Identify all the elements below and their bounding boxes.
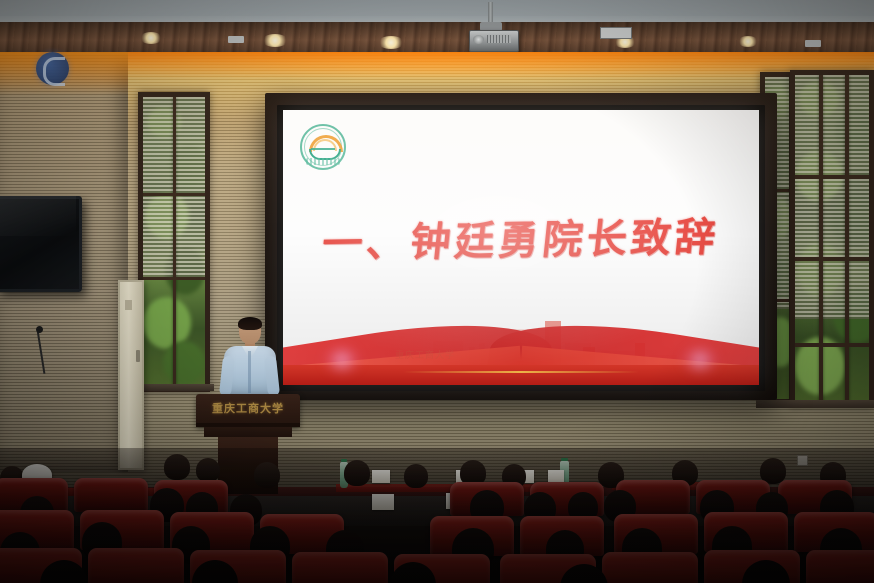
ceiling-downlight: [262, 34, 288, 47]
audience-head: [404, 464, 428, 488]
auditorium-photo: 一、钟廷勇院长致辞 重庆工商大学: [0, 0, 874, 583]
microphone-icon: [36, 326, 43, 333]
bottle-cap: [561, 458, 568, 461]
projector-vent: [487, 35, 511, 43]
speaker-hair: [238, 317, 262, 330]
speaker-person: [222, 318, 278, 398]
school-emblem-logo: [300, 124, 346, 170]
ceiling-vent: [805, 40, 821, 47]
slide-footer-graphic: 重庆工商大学: [283, 315, 759, 385]
speaker-shirt-placket: [248, 351, 251, 393]
door-plate: [125, 300, 132, 310]
ceiling-vent: [228, 36, 244, 43]
audience-seating: [0, 448, 874, 583]
logo-wordmark: [306, 158, 340, 165]
ceiling-downlight: [140, 32, 162, 44]
seat[interactable]: [88, 548, 184, 583]
seat[interactable]: [292, 552, 388, 583]
presentation-screen[interactable]: 一、钟廷勇院长致辞 重庆工商大学: [283, 110, 759, 385]
venetian-blinds-right[interactable]: [795, 75, 869, 319]
screen-light-flare: [683, 349, 717, 371]
ceiling-downlight: [378, 36, 404, 49]
seat[interactable]: [602, 552, 698, 583]
seat[interactable]: [806, 550, 874, 583]
bottle-cap: [341, 459, 347, 462]
table-name-card: [372, 494, 394, 510]
podium-university-name: 重庆工商大学: [196, 400, 300, 416]
ceiling-equipment-box: [600, 27, 632, 39]
table-name-card: [548, 470, 564, 482]
tv-screen-reflection: [0, 196, 76, 236]
logo-bar-icon: [311, 148, 335, 150]
window-sill-right: [756, 400, 874, 408]
slide-footer-university: 重庆工商大学: [395, 348, 455, 361]
podium-logo-mark-icon: [43, 57, 65, 86]
projector-mount-pole: [488, 2, 493, 24]
audience-head: [196, 458, 220, 482]
wall-uplight-core: [0, 52, 874, 80]
ceiling-downlight: [738, 36, 758, 47]
screen-light-flare: [325, 349, 359, 371]
window-sill-left: [134, 384, 214, 391]
window-left: [138, 92, 210, 392]
window-right: [790, 70, 874, 408]
podium-mid-section: [204, 427, 292, 437]
seat[interactable]: [74, 478, 148, 512]
table-name-card: [372, 470, 390, 483]
audience-head: [344, 460, 370, 486]
audience-head: [254, 462, 280, 488]
projector-lens: [473, 35, 484, 44]
door-handle[interactable]: [136, 350, 140, 362]
audience-head: [164, 454, 190, 480]
slide-title: 一、钟廷勇院长致辞: [283, 204, 759, 270]
